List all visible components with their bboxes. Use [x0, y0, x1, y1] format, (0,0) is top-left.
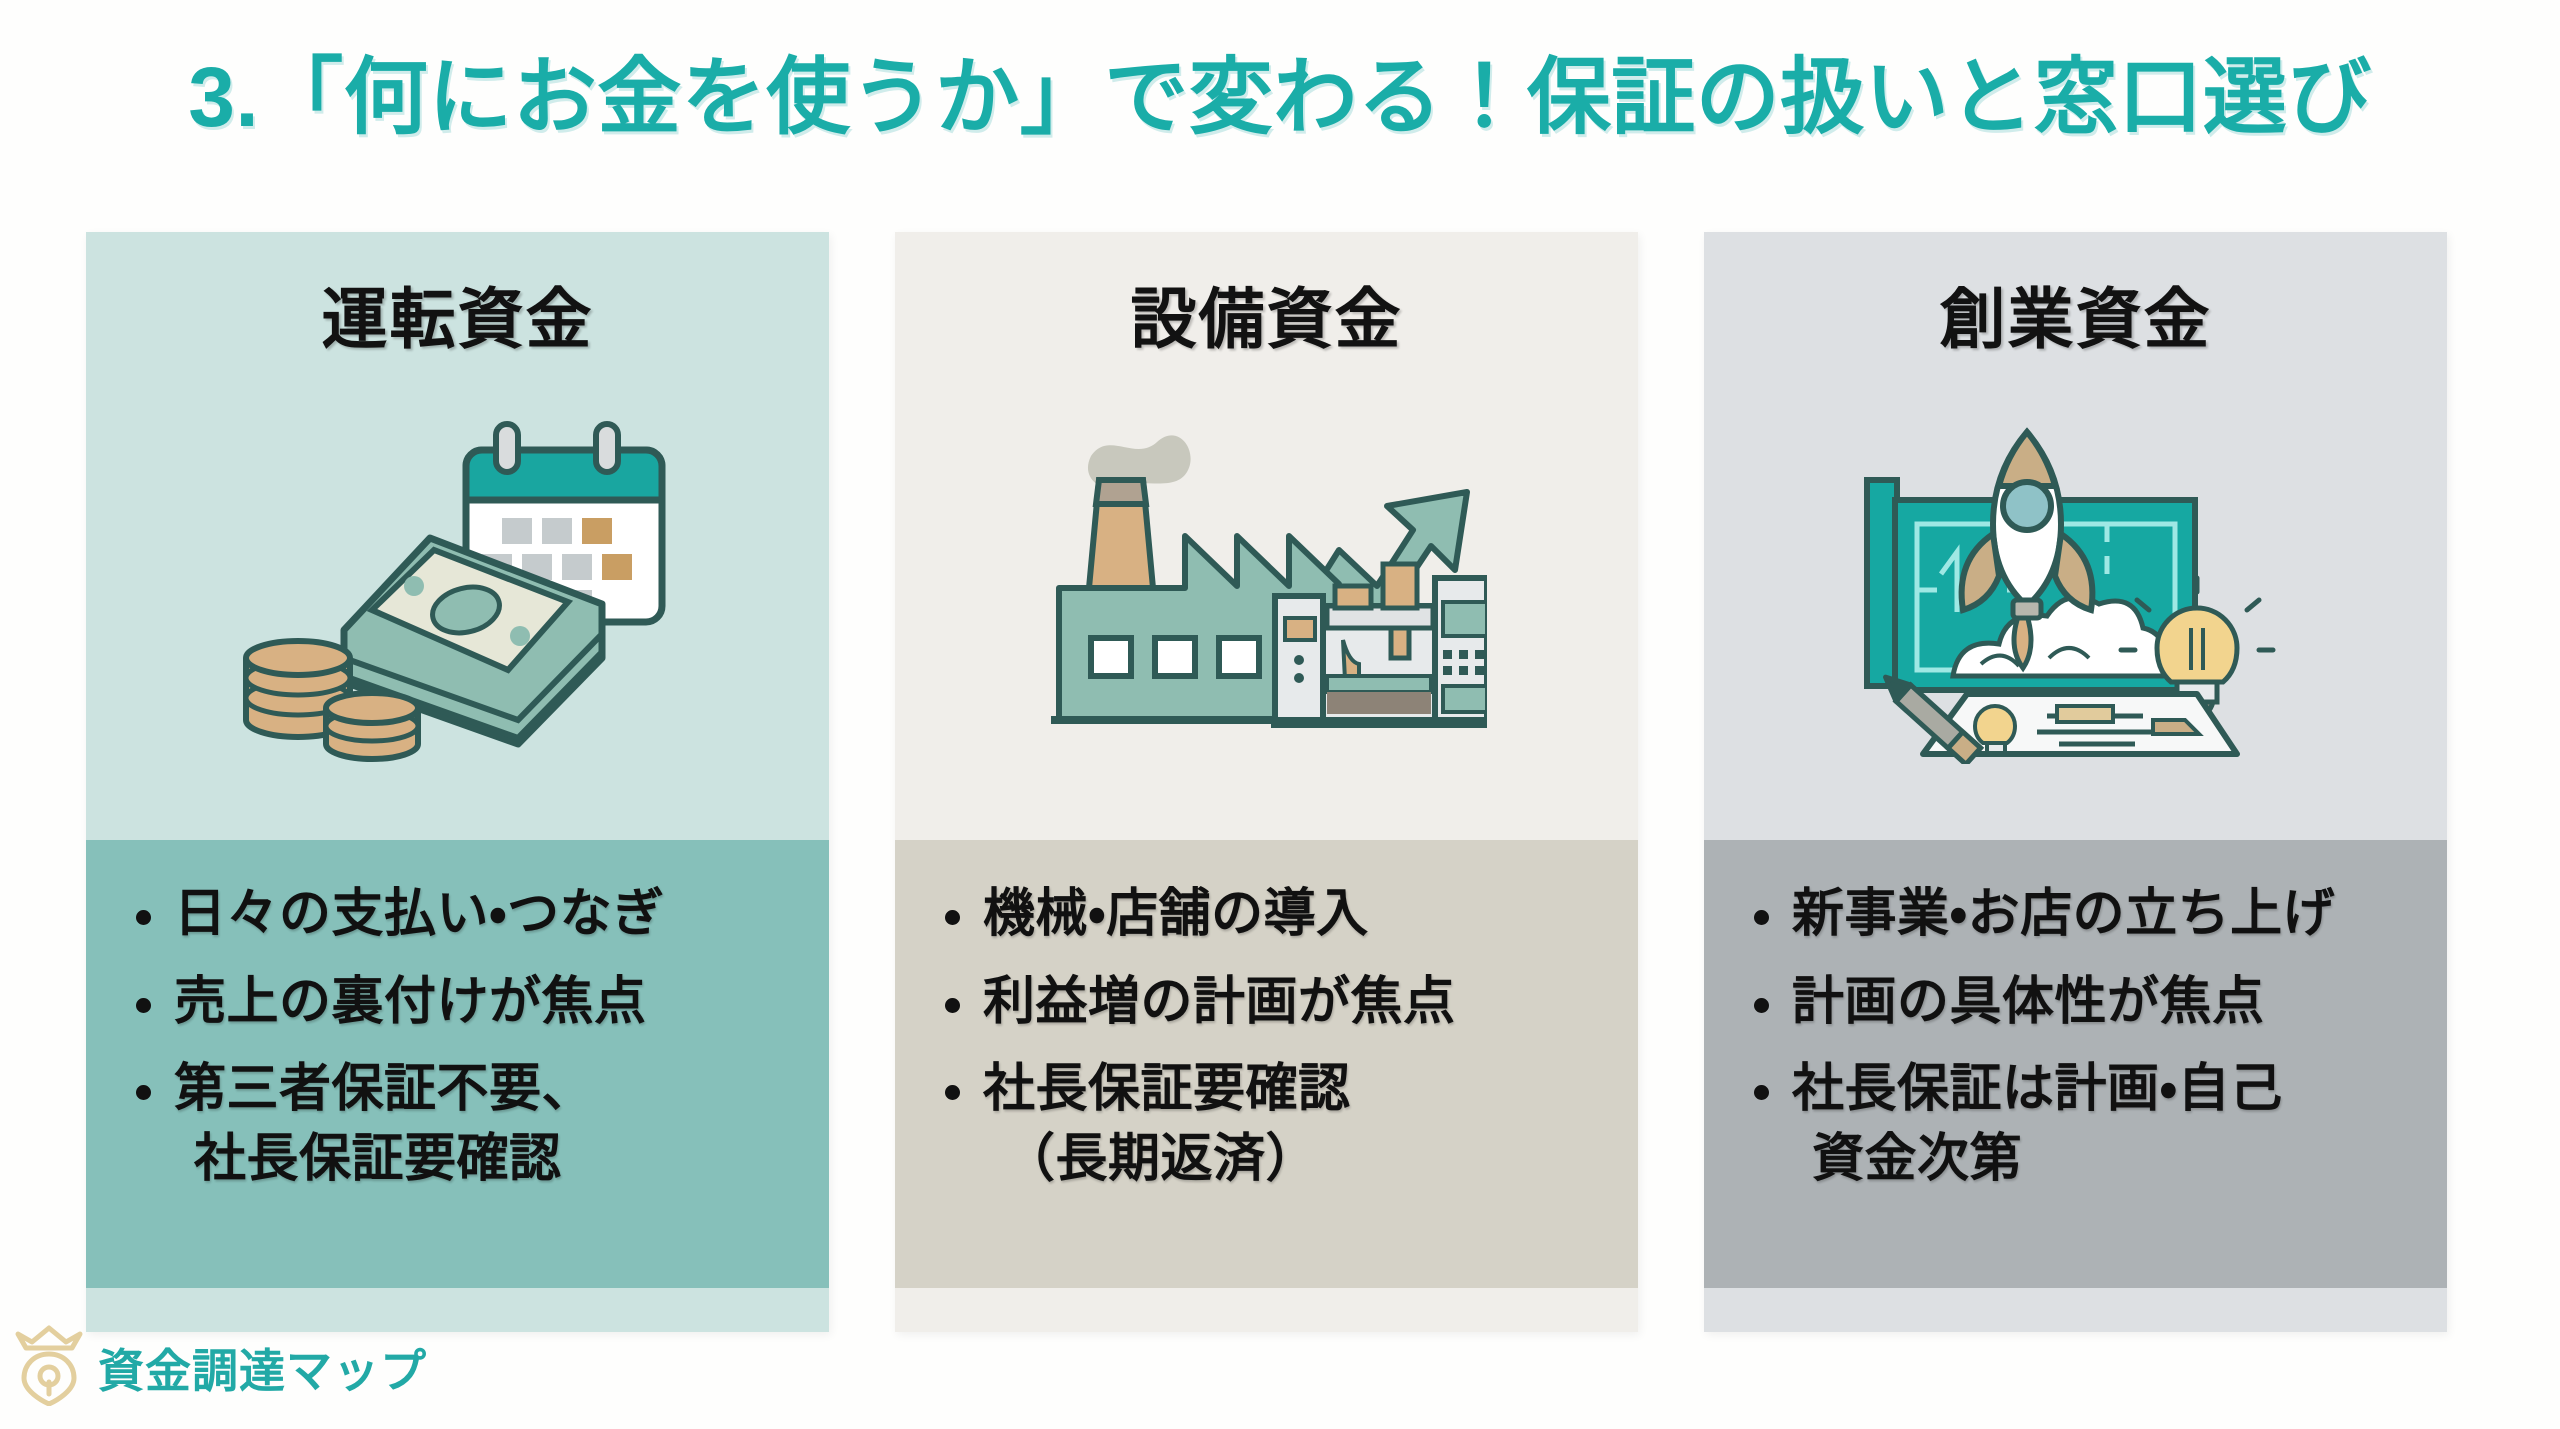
bullet-list: 機械・店舗の導入 利益増の計画が焦点 社長保証要確認 （長期返済）	[929, 880, 1610, 1195]
bullet-line-2: 資金次第	[1792, 1125, 2419, 1195]
card-equipment-capital[interactable]: 設備資金	[895, 232, 1638, 1332]
card-working-capital[interactable]: 運転資金	[86, 232, 829, 1332]
bullet-list: 新事業・お店の立ち上げ 計画の具体性が焦点 社長保証は計画・自己 資金次第	[1738, 880, 2419, 1195]
bullet-line-1: 売上の裏付けが焦点	[174, 973, 647, 1031]
bullet-line-1: 社長保証要確認	[983, 1060, 1351, 1118]
logo-text: 資金調達マップ	[98, 1335, 427, 1401]
page-title: 3.「何にお金を使うか」で変わる！保証の扱いと窓口選び	[0, 48, 2560, 147]
bullet-line-1: 第三者保証不要、	[174, 1060, 594, 1118]
bullet-line-1: 新事業・お店の立ち上げ	[1792, 885, 2335, 943]
list-item: 社長保証要確認 （長期返済）	[929, 1055, 1610, 1194]
list-item: 計画の具体性が焦点	[1738, 968, 2419, 1038]
card-bullet-panel: 日々の支払い・つなぎ 売上の裏付けが焦点 第三者保証不要、 社長保証要確認	[86, 840, 829, 1288]
list-item: 第三者保証不要、 社長保証要確認	[120, 1055, 801, 1194]
bullet-list: 日々の支払い・つなぎ 売上の裏付けが焦点 第三者保証不要、 社長保証要確認	[120, 880, 801, 1195]
bullet-line-1: 利益増の計画が焦点	[983, 973, 1456, 1031]
card-bullet-panel: 新事業・お店の立ち上げ 計画の具体性が焦点 社長保証は計画・自己 資金次第	[1704, 840, 2447, 1288]
footer-logo[interactable]: 資金調達マップ	[14, 1324, 427, 1411]
list-item: 売上の裏付けが焦点	[120, 968, 801, 1038]
card-top-panel: 創業資金	[1704, 232, 2447, 840]
bullet-line-2: 社長保証要確認	[174, 1125, 801, 1195]
bullet-line-2: （長期返済）	[983, 1125, 1610, 1195]
list-item: 機械・店舗の導入	[929, 880, 1610, 950]
card-row: 運転資金	[86, 232, 2474, 1332]
card-heading: 創業資金	[1940, 266, 2212, 362]
card-heading: 設備資金	[1131, 266, 1403, 362]
card-foot-strip	[895, 1288, 1638, 1332]
crown-map-pin-icon	[14, 1324, 84, 1411]
bullet-line-1: 日々の支払い・つなぎ	[174, 885, 665, 943]
bullet-line-1: 計画の具体性が焦点	[1792, 973, 2265, 1031]
list-item: 利益増の計画が焦点	[929, 968, 1610, 1038]
card-top-panel: 設備資金	[895, 232, 1638, 840]
bullet-line-1: 機械・店舗の導入	[983, 885, 1369, 943]
card-top-panel: 運転資金	[86, 232, 829, 840]
bullet-line-1: 社長保証は計画・自己	[1792, 1060, 2283, 1118]
card-foot-strip	[1704, 1288, 2447, 1332]
list-item: 日々の支払い・つなぎ	[120, 880, 801, 950]
card-bullet-panel: 機械・店舗の導入 利益増の計画が焦点 社長保証要確認 （長期返済）	[895, 840, 1638, 1288]
card-startup-capital[interactable]: 創業資金	[1704, 232, 2447, 1332]
list-item: 社長保証は計画・自己 資金次第	[1738, 1055, 2419, 1194]
factory-growth-illustration	[1047, 414, 1487, 759]
money-calendar-illustration	[238, 414, 678, 779]
slide-root: 3.「何にお金を使うか」で変わる！保証の扱いと窓口選び 運転資金	[0, 0, 2560, 1429]
list-item: 新事業・お店の立ち上げ	[1738, 880, 2419, 950]
card-heading: 運転資金	[322, 266, 594, 362]
rocket-blueprint-illustration	[1861, 414, 2291, 769]
